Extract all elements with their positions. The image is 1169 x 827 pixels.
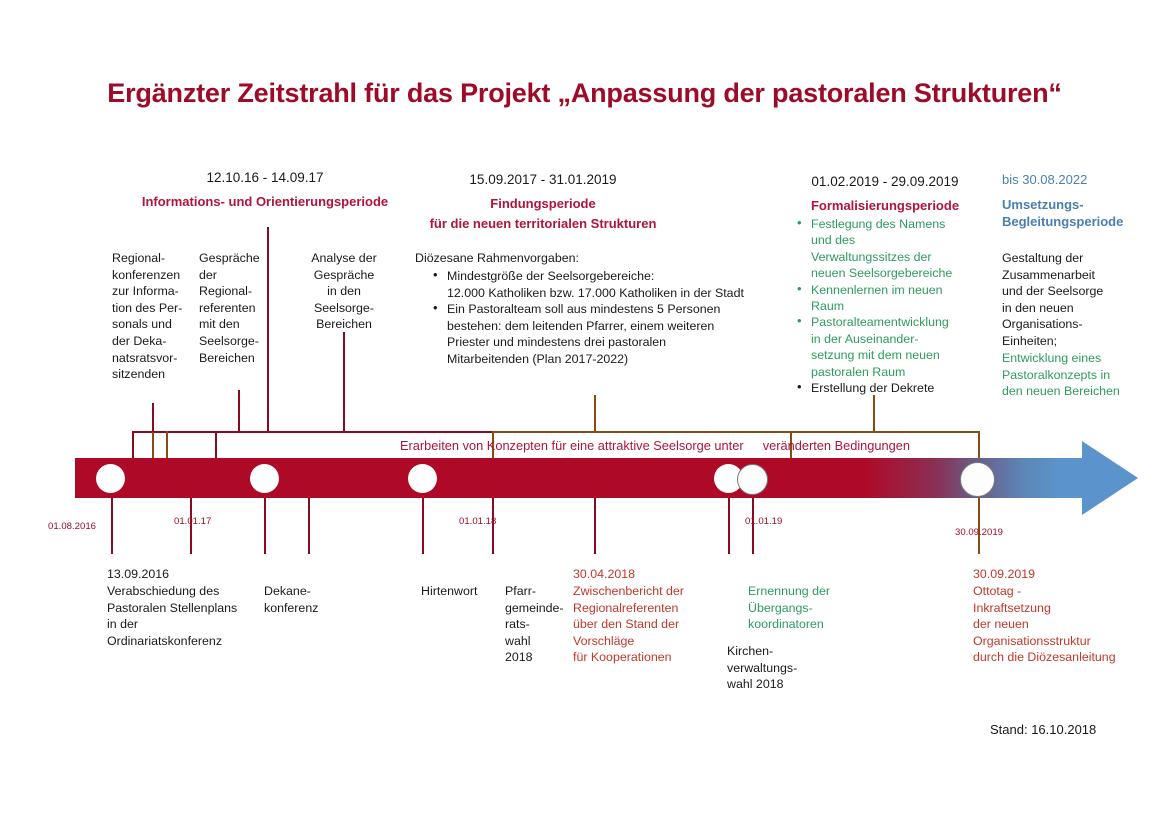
event-ottotag-text: Ottotag - Inkraftsetzung der neuen Organ… <box>973 583 1158 666</box>
period-range-formalisierungsperiode: 01.02.2019 - 29.09.2019 <box>790 174 980 189</box>
column-gespraeche-regionalreferenten: Gespräche der Regional- referenten mit d… <box>199 250 283 366</box>
stem-gespraeche <box>238 390 240 432</box>
bracket-leg-4 <box>215 431 217 459</box>
formalisierung-bullet-1: Festlegung des Namens und des Verwaltung… <box>795 216 980 282</box>
formalisierung-bullet-4: Erstellung der Dekrete <box>795 380 980 396</box>
timeline-node-1[interactable] <box>96 464 125 493</box>
axis-date-30-09-2019: 30.09.2019 <box>955 527 1003 538</box>
period-name-findungsperiode-line2: für die neuen territorialen Strukturen <box>400 216 686 231</box>
formalisierung-bullet-3: Pastoralteamentwicklung in der Auseinand… <box>795 314 980 380</box>
column-analyse-gespraeche: Analyse der Gespräche in den Seelsorge- … <box>296 250 392 333</box>
bracket-leg-2 <box>152 431 154 459</box>
event-zwischenbericht-text: Zwischenbericht der Regionalreferenten ü… <box>573 583 723 666</box>
timeline-node-3[interactable] <box>408 464 437 493</box>
stem-findungsperiode <box>594 395 596 432</box>
period-name-findungsperiode-line1: Findungsperiode <box>418 196 668 211</box>
stem-formalisierungsperiode <box>873 395 875 432</box>
stem-period1-divider <box>267 227 269 432</box>
column-regionalkonferenzen: Regional- konferenzen zur Informa- tion … <box>112 250 194 383</box>
axis-date-01-01-19: 01.01.19 <box>745 516 782 527</box>
page-title: Ergänzter Zeitstrahl für das Projekt „An… <box>0 78 1169 109</box>
stem-regionalkonferenzen <box>152 403 154 432</box>
bracket-rail-brown-right <box>492 431 980 433</box>
event-ottotag-date: 30.09.2019 <box>973 566 1163 583</box>
umsetzungsperiode-body-black: Gestaltung der Zusammenarbeit und der Se… <box>1002 250 1162 350</box>
tick-line-7 <box>594 498 596 554</box>
bracket-rail-red-left <box>132 431 492 433</box>
event-verabschiedung-text: Verabschiedung des Pastoralen Stellenpla… <box>107 583 272 649</box>
axis-date-01-08-2016: 01.08.2016 <box>48 521 96 532</box>
findungsperiode-bullet-2: Ein Pastoralteam soll aus mindestens 5 P… <box>431 301 791 367</box>
tick-line-5 <box>422 498 424 554</box>
tick-line-1 <box>111 498 113 554</box>
bracket-leg-3 <box>166 431 168 459</box>
event-zwischenbericht-date: 30.04.2018 <box>573 566 733 583</box>
bracket-leg-1 <box>132 431 134 459</box>
tick-line-4 <box>308 498 310 554</box>
timeline-arrow-head <box>1082 441 1138 515</box>
event-hirtenwort: Hirtenwort <box>421 583 511 600</box>
findungsperiode-bullet-1: Mindestgröße der Seelsorgebereiche: 12.0… <box>431 268 791 301</box>
period-name-umsetzungsperiode: Umsetzungs- Begleitungsperiode <box>1002 196 1162 230</box>
event-pfarrgemeinderatswahl: Pfarr- gemeinde- rats- wahl 2018 <box>505 583 575 666</box>
period-range-findungsperiode: 15.09.2017 - 31.01.2019 <box>418 172 668 187</box>
event-verabschiedung-date: 13.09.2016 <box>107 566 277 583</box>
bar-banner-part2: veränderten Bedingungen <box>763 438 910 453</box>
timeline-node-2[interactable] <box>250 464 279 493</box>
timeline-node-6[interactable] <box>960 462 995 497</box>
period-range-umsetzungsperiode: bis 30.08.2022 <box>1002 172 1162 187</box>
formalisierung-bullet-2: Kennenlernen im neuen Raum <box>795 282 980 315</box>
timeline-bar <box>75 458 1082 498</box>
bar-banner: Erarbeiten von Konzepten für eine attrak… <box>400 438 970 453</box>
umsetzungsperiode-body-green: Entwicklung eines Pastoralkonzepts in de… <box>1002 350 1162 400</box>
event-dekanekonferenz: Dekane- konferenz <box>264 583 354 616</box>
event-kirchenverwaltungswahl: Kirchen- verwaltungs- wahl 2018 <box>727 643 842 693</box>
timeline-diagram: Ergänzter Zeitstrahl für das Projekt „An… <box>0 0 1169 827</box>
tick-line-10 <box>978 498 980 554</box>
status-stand: Stand: 16.10.2018 <box>990 722 1096 737</box>
timeline-node-5[interactable] <box>737 464 768 495</box>
tick-line-8 <box>728 498 730 554</box>
bar-banner-part1: Erarbeiten von Konzepten für eine attrak… <box>400 438 744 453</box>
tick-line-3 <box>264 498 266 554</box>
axis-date-01-01-17: 01.01.17 <box>174 516 211 527</box>
event-ernennung-uebergangskoordinatoren: Ernennung der Übergangs- koordinatoren <box>748 583 863 633</box>
period-range-informations: 12.10.16 - 14.09.17 <box>140 170 390 185</box>
period-name-formalisierungsperiode: Formalisierungsperiode <box>790 198 980 213</box>
period-name-informations: Informations- und Orientierungsperiode <box>110 194 420 209</box>
findungsperiode-intro: Diözesane Rahmenvorgaben: <box>415 250 785 267</box>
axis-date-01-01-18: 01.01.18 <box>459 516 496 527</box>
stem-analyse <box>343 332 345 432</box>
